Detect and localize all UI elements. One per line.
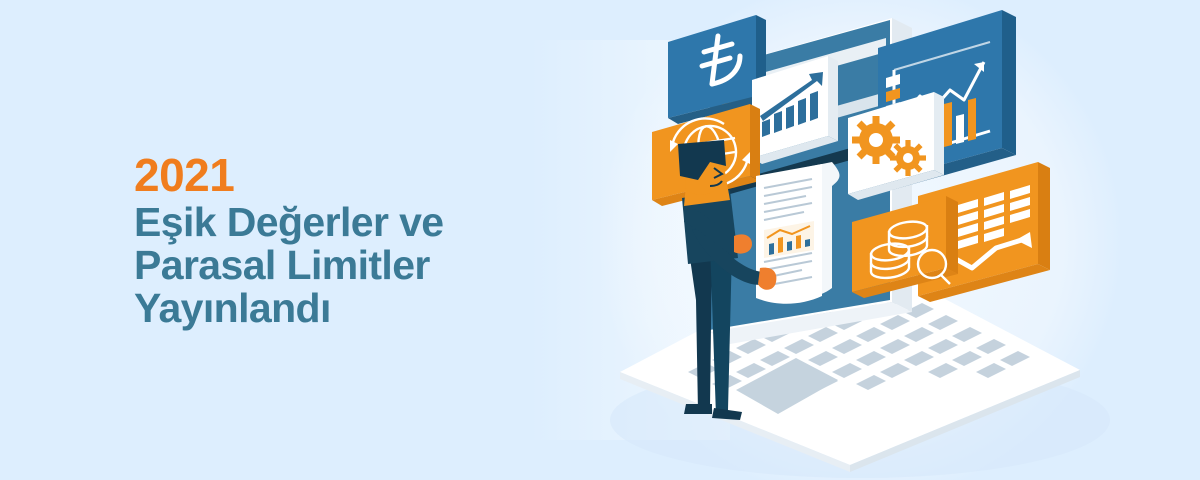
headline-block: 2021 Eşik Değerler ve Parasal Limitler Y… bbox=[134, 152, 444, 329]
headline-line-3: Yayınlandı bbox=[134, 288, 444, 329]
person-shoe-back bbox=[684, 404, 712, 414]
headline-line-2: Parasal Limitler bbox=[134, 245, 444, 286]
illustration-svg bbox=[560, 0, 1200, 480]
person-hand-lower bbox=[758, 268, 776, 290]
headline-line-1: Eşik Değerler ve bbox=[134, 202, 444, 243]
banner-root: 2021 Eşik Değerler ve Parasal Limitler Y… bbox=[0, 0, 1200, 480]
illustration bbox=[560, 0, 1200, 480]
headline-year: 2021 bbox=[134, 152, 444, 198]
